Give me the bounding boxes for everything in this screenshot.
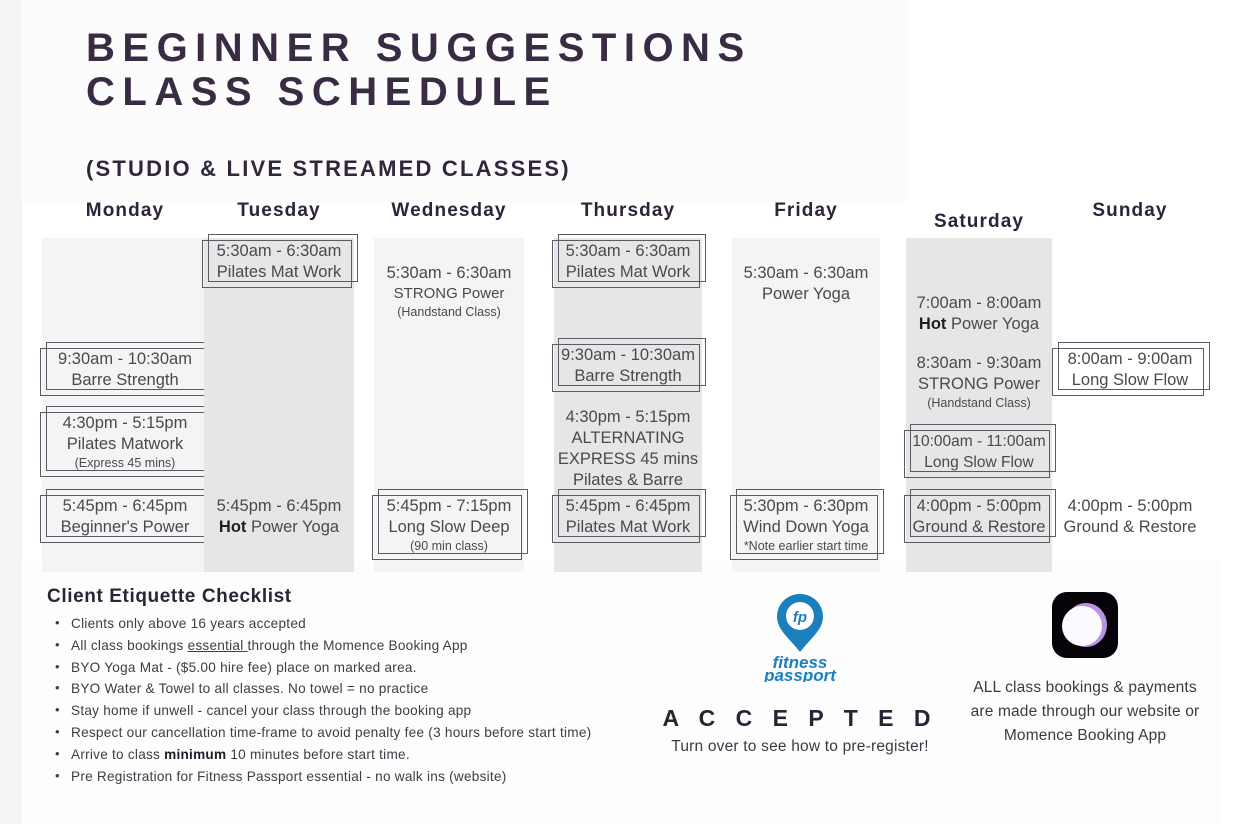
class-time: 8:00am - 9:00am	[1056, 349, 1204, 370]
class-time: 4:00pm - 5:00pm	[1056, 496, 1204, 517]
class-name: STRONG Power	[908, 374, 1050, 395]
day-column-tuesday: Tuesday5:30am - 6:30amPilates Mat Work5:…	[204, 200, 354, 572]
class-time: 8:30am - 9:30am	[908, 353, 1050, 374]
day-body-thursday: 5:30am - 6:30amPilates Mat Work9:30am - …	[554, 238, 702, 572]
class-note: (Handstand Class)	[908, 395, 1050, 412]
class-slot[interactable]: 5:45pm - 7:15pmLong Slow Deep(90 min cla…	[374, 493, 524, 558]
class-note: (Handstand Class)	[376, 304, 522, 321]
checklist-item: Stay home if unwell - cancel your class …	[47, 700, 622, 722]
day-body-friday: 5:30am - 6:30amPower Yoga5:30pm - 6:30pm…	[732, 238, 880, 572]
momence-block: ALL class bookings & payments are made t…	[950, 578, 1220, 748]
class-name: Wind Down Yoga	[734, 517, 878, 538]
class-time: 5:45pm - 6:45pm	[556, 496, 700, 517]
day-column-sunday: Sunday8:00am - 9:00amLong Slow Flow4:00p…	[1054, 200, 1206, 572]
class-name: Ground & Restore	[1056, 517, 1204, 538]
class-name: Long Slow Flow	[1056, 370, 1204, 391]
class-slot[interactable]: 8:00am - 9:00amLong Slow Flow	[1054, 346, 1206, 394]
class-time: 5:45pm - 6:45pm	[206, 496, 352, 517]
momence-note-line-1: ALL class bookings & payments	[950, 676, 1220, 700]
day-header-saturday: Saturday	[906, 211, 1052, 233]
checklist-item: BYO Yoga Mat - ($5.00 hire fee) place on…	[47, 657, 622, 679]
class-slot[interactable]: 5:45pm - 6:45pmBeginner's Power	[42, 493, 208, 541]
momence-note-line-2: are made through our website or	[950, 700, 1220, 724]
day-column-friday: Friday5:30am - 6:30amPower Yoga5:30pm - …	[732, 200, 880, 572]
class-slot[interactable]: 5:30am - 6:30amPower Yoga	[732, 260, 880, 308]
checklist-item: Respect our cancellation time-frame to a…	[47, 722, 622, 744]
day-header-friday: Friday	[732, 200, 880, 222]
class-name: Ground & Restore	[908, 517, 1050, 538]
class-slot[interactable]: 5:30am - 6:30amPilates Mat Work	[554, 238, 702, 286]
class-time: 9:30am - 10:30am	[556, 345, 700, 366]
class-name: Pilates Mat Work	[556, 517, 700, 538]
class-name: STRONG Power	[376, 284, 522, 304]
class-name: Pilates Mat Work	[556, 262, 700, 283]
checklist-heading: Client Etiquette Checklist	[47, 586, 622, 608]
class-note: (Express 45 mins)	[44, 455, 206, 472]
day-header-tuesday: Tuesday	[204, 200, 354, 222]
checklist-item: Pre Registration for Fitness Passport es…	[47, 766, 622, 788]
checklist-item: BYO Water & Towel to all classes. No tow…	[47, 678, 622, 700]
day-body-saturday: 7:00am - 8:00amHot Power Yoga8:30am - 9:…	[906, 238, 1052, 572]
class-time: 5:45pm - 7:15pm	[376, 496, 522, 517]
fitness-passport-block: fp fitness passport A C C E P T E D Turn…	[651, 578, 949, 756]
class-slot[interactable]: 4:30pm - 5:15pmPilates Matwork(Express 4…	[42, 410, 208, 475]
class-time: 4:30pm - 5:15pm	[556, 407, 700, 428]
week-grid: Monday9:30am - 10:30amBarre Strength4:30…	[22, 200, 1219, 572]
class-time: 7:00am - 8:00am	[908, 293, 1050, 314]
schedule-poster: BEGINNER SUGGESTIONS CLASS SCHEDULE (STU…	[0, 0, 1239, 824]
class-time: 5:30am - 6:30am	[734, 263, 878, 284]
svg-text:fp: fp	[793, 609, 807, 626]
class-time: 4:00pm - 5:00pm	[908, 496, 1050, 517]
checklist-item: Arrive to class minimum 10 minutes befor…	[47, 744, 622, 766]
title-line-1: BEGINNER SUGGESTIONS	[86, 26, 752, 70]
class-slot[interactable]: 5:30am - 6:30amPilates Mat Work	[204, 238, 354, 286]
class-name: Beginner's Power	[44, 517, 206, 538]
page-title: BEGINNER SUGGESTIONS CLASS SCHEDULE	[86, 26, 752, 114]
title-line-2: CLASS SCHEDULE	[86, 70, 752, 114]
momence-blob-shape	[1062, 606, 1102, 646]
checklist-item: All class bookings essential through the…	[47, 635, 622, 657]
class-note: (90 min class)	[376, 538, 522, 555]
class-time: 4:30pm - 5:15pm	[44, 413, 206, 434]
class-name-extra-1: EXPRESS 45 mins	[556, 449, 700, 470]
checklist-item: Clients only above 16 years accepted	[47, 613, 622, 635]
day-body-wednesday: 5:30am - 6:30amSTRONG Power(Handstand Cl…	[374, 238, 524, 572]
class-time: 5:30am - 6:30am	[556, 241, 700, 262]
class-name: Power Yoga	[734, 284, 878, 305]
day-column-monday: Monday9:30am - 10:30amBarre Strength4:30…	[42, 200, 208, 572]
class-slot[interactable]: 5:30am - 6:30amSTRONG Power(Handstand Cl…	[374, 260, 524, 324]
class-time: 5:45pm - 6:45pm	[44, 496, 206, 517]
class-name: Barre Strength	[44, 370, 206, 391]
class-slot[interactable]: 4:30pm - 5:15pmALTERNATINGEXPRESS 45 min…	[554, 404, 702, 494]
class-time: 5:30am - 6:30am	[206, 241, 352, 262]
class-name: Long Slow Flow	[908, 452, 1050, 473]
class-name: Long Slow Deep	[376, 517, 522, 538]
class-slot[interactable]: 4:00pm - 5:00pmGround & Restore	[906, 493, 1052, 541]
day-header-monday: Monday	[42, 200, 208, 222]
page-subtitle: (STUDIO & LIVE STREAMED CLASSES)	[86, 156, 571, 182]
class-slot[interactable]: 5:45pm - 6:45pmPilates Mat Work	[554, 493, 702, 541]
momence-logo-icon	[1052, 592, 1118, 658]
day-header-thursday: Thursday	[554, 200, 702, 222]
pre-register-note: Turn over to see how to pre-register!	[651, 738, 949, 756]
fp-logo-line-2: passport	[763, 666, 837, 682]
day-body-sunday: 8:00am - 9:00amLong Slow Flow4:00pm - 5:…	[1054, 238, 1206, 572]
class-slot[interactable]: 7:00am - 8:00amHot Power Yoga	[906, 290, 1052, 338]
class-slot[interactable]: 9:30am - 10:30amBarre Strength	[554, 342, 702, 390]
class-name: Pilates Mat Work	[206, 262, 352, 283]
checklist-list: Clients only above 16 years acceptedAll …	[47, 613, 622, 787]
day-header-sunday: Sunday	[1054, 200, 1206, 222]
day-column-saturday: Saturday7:00am - 8:00amHot Power Yoga8:3…	[906, 200, 1052, 572]
class-slot[interactable]: 8:30am - 9:30amSTRONG Power(Handstand Cl…	[906, 350, 1052, 415]
class-name: Barre Strength	[556, 366, 700, 387]
day-header-wednesday: Wednesday	[374, 200, 524, 222]
day-column-thursday: Thursday5:30am - 6:30amPilates Mat Work9…	[554, 200, 702, 572]
day-column-wednesday: Wednesday5:30am - 6:30amSTRONG Power(Han…	[374, 200, 524, 572]
class-slot[interactable]: 9:30am - 10:30amBarre Strength	[42, 346, 208, 394]
day-body-monday: 9:30am - 10:30amBarre Strength4:30pm - 5…	[42, 238, 208, 572]
day-body-tuesday: 5:30am - 6:30amPilates Mat Work5:45pm - …	[204, 238, 354, 572]
class-name-extra-2: Pilates & Barre	[556, 470, 700, 491]
class-slot[interactable]: 5:30pm - 6:30pmWind Down Yoga*Note earli…	[732, 493, 880, 558]
class-slot[interactable]: 5:45pm - 6:45pmHot Power Yoga	[204, 493, 354, 541]
accepted-label: A C C E P T E D	[651, 705, 949, 732]
class-time: 5:30pm - 6:30pm	[734, 496, 878, 517]
class-time: 9:30am - 10:30am	[44, 349, 206, 370]
left-edge-strip	[0, 0, 22, 824]
class-name: Pilates Matwork	[44, 434, 206, 455]
class-time: 5:30am - 6:30am	[376, 263, 522, 284]
class-name: ALTERNATING	[556, 428, 700, 449]
class-time: 10:00am - 11:00am	[908, 431, 1050, 452]
momence-booking-note: ALL class bookings & payments are made t…	[950, 676, 1220, 748]
class-name: Hot Power Yoga	[206, 517, 352, 538]
class-note: *Note earlier start time	[734, 538, 878, 555]
class-slot[interactable]: 10:00am - 11:00amLong Slow Flow	[906, 428, 1052, 476]
class-name: Hot Power Yoga	[908, 314, 1050, 335]
fitness-passport-logo-icon: fp fitness passport	[741, 590, 859, 682]
momence-note-line-3: Momence Booking App	[950, 724, 1220, 748]
client-etiquette-checklist: Client Etiquette Checklist Clients only …	[47, 586, 622, 787]
class-slot[interactable]: 4:00pm - 5:00pmGround & Restore	[1054, 493, 1206, 541]
